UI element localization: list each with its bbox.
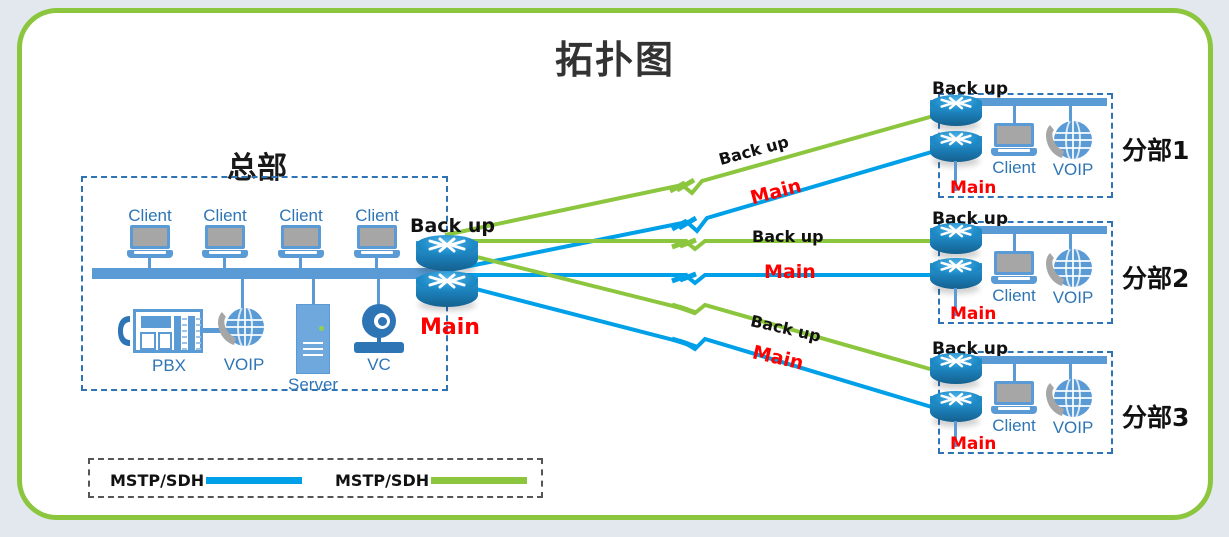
legend-item-mstp-sdh-backup: MSTP/SDH (335, 471, 527, 490)
bolt-backup-branch3 (672, 305, 696, 313)
laptop-screen (130, 225, 170, 249)
branch2-voip-label: VOIP (1050, 289, 1096, 306)
branch1-title: 分部1 (1122, 131, 1189, 167)
laptop-base (127, 250, 173, 258)
laptop-screen (994, 123, 1034, 147)
server-line (303, 342, 323, 344)
webcam-body (362, 304, 396, 338)
webcam-stand (354, 342, 404, 353)
legend-color-swatch (206, 477, 302, 484)
hq-pbx-label: PBX (139, 357, 199, 374)
hq-server-label: Server (288, 376, 338, 393)
branch2-client-label: Client (991, 287, 1037, 304)
hq-client-4-label: Client (354, 207, 400, 224)
laptop-base (991, 276, 1037, 284)
laptop-icon (278, 225, 324, 259)
phone-handset-icon (1044, 251, 1066, 289)
hq-client-3-label: Client (278, 207, 324, 224)
hq-client-1-drop (148, 258, 151, 270)
server-led (319, 326, 324, 331)
hq-router-main-label: Main (420, 315, 480, 340)
hq-client-2-label: Client (202, 207, 248, 224)
link-label-backup-branch2: Back up (752, 227, 824, 246)
branch1-client-label: Client (991, 159, 1037, 176)
pbx-dots (196, 318, 201, 350)
pbx-slot (174, 316, 181, 352)
branch1-router-main-label: Main (950, 178, 996, 198)
phone-handset-icon (1044, 123, 1066, 161)
router-arrows-icon (940, 355, 972, 369)
laptop-icon (991, 381, 1037, 415)
hq-vc-drop (377, 277, 380, 305)
hq-client-3-drop (299, 258, 302, 270)
server-line (303, 354, 323, 356)
laptop-screen (281, 225, 321, 249)
server-icon (296, 304, 330, 374)
legend-label: MSTP/SDH (335, 471, 429, 490)
branch3-client-label: Client (991, 417, 1037, 434)
hq-router-backup-label: Back up (410, 215, 495, 237)
pbx-icon (117, 309, 203, 353)
laptop-base (202, 250, 248, 258)
hq-client-2-drop (223, 258, 226, 270)
laptop-icon (354, 225, 400, 259)
branch3-client-drop (1013, 363, 1016, 381)
phone-handset-icon (1044, 381, 1066, 419)
laptop-icon (991, 123, 1037, 157)
branch2-router-main-label: Main (950, 304, 996, 324)
hq-voip-label: VOIP (221, 356, 267, 373)
pbx-slot (141, 316, 171, 328)
pbx-cell (140, 332, 156, 350)
branch3-title: 分部3 (1122, 398, 1189, 434)
branch3-router-main[interactable] (930, 391, 982, 425)
hq-client-1-label: Client (127, 207, 173, 224)
link-label-main-branch2: Main (764, 261, 816, 283)
webcam-lens-inner (378, 317, 387, 326)
branch2-title: 分部2 (1122, 259, 1189, 295)
hq-vc-label: VC (356, 356, 402, 373)
router-arrows-icon (940, 97, 972, 111)
laptop-base (991, 406, 1037, 414)
laptop-base (991, 148, 1037, 156)
pbx-slot (188, 316, 195, 352)
hq-backbone-bus (92, 268, 447, 279)
router-arrows-icon (940, 260, 972, 274)
phone-handset-icon (216, 310, 238, 348)
server-line (303, 348, 323, 350)
phone-handset-icon (117, 314, 133, 348)
branch1-router-backup[interactable] (930, 95, 982, 129)
legend-label: MSTP/SDH (110, 471, 204, 490)
laptop-icon (127, 225, 173, 259)
pbx-cell (158, 332, 172, 350)
branch2-router-main[interactable] (930, 258, 982, 292)
branch1-client-drop (1013, 105, 1016, 123)
link-main-branch1 (445, 151, 935, 271)
branch1-router-main[interactable] (930, 131, 982, 165)
router-arrows-icon (428, 238, 466, 254)
branch3-router-backup[interactable] (930, 353, 982, 387)
branch3-voip-label: VOIP (1050, 419, 1096, 436)
pbx-dots (182, 318, 187, 350)
bolt-main-branch3 (672, 339, 696, 347)
router-arrows-icon (940, 393, 972, 407)
router-arrows-icon (940, 225, 972, 239)
hq-client-4-drop (375, 258, 378, 270)
hq-server-drop (312, 277, 315, 305)
branch2-router-backup[interactable] (930, 223, 982, 257)
laptop-icon (202, 225, 248, 259)
branch1-voip-label: VOIP (1050, 161, 1096, 178)
laptop-icon (991, 251, 1037, 285)
router-arrows-icon (940, 133, 972, 147)
branch2-client-drop (1013, 233, 1016, 251)
topology-slide: 拓扑图 Back up Main Back up Main Back up Ma… (17, 8, 1213, 520)
pbx-body (133, 309, 203, 353)
legend: MSTP/SDH MSTP/SDH (88, 458, 543, 498)
webcam-icon (354, 304, 404, 356)
branch3-router-main-label: Main (950, 434, 996, 454)
server-body (296, 304, 330, 374)
laptop-base (354, 250, 400, 258)
laptop-screen (205, 225, 245, 249)
legend-item-mstp-sdh-main: MSTP/SDH (110, 471, 302, 490)
link-backup-branch1 (445, 115, 937, 235)
legend-color-swatch (431, 477, 527, 484)
laptop-base (278, 250, 324, 258)
laptop-screen (994, 251, 1034, 275)
router-arrows-icon (428, 274, 466, 290)
laptop-screen (994, 381, 1034, 405)
hq-router-backup[interactable] (416, 235, 478, 275)
globe-icon (218, 308, 264, 354)
hq-router-main[interactable] (416, 271, 478, 311)
laptop-screen (357, 225, 397, 249)
